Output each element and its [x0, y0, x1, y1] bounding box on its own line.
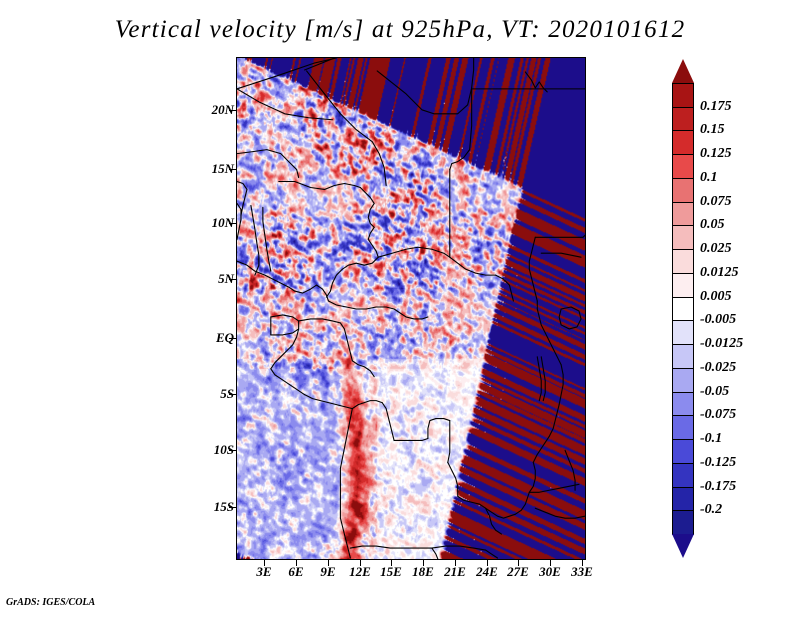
border-line — [450, 257, 496, 275]
colorbar-segment — [672, 202, 694, 227]
border-line — [496, 275, 514, 301]
colorbar-segment — [672, 83, 694, 108]
border-line — [237, 261, 295, 291]
border-line — [305, 395, 353, 409]
border-line — [448, 462, 458, 496]
border-line — [382, 403, 394, 441]
colorbar-tick-label: -0.125 — [700, 455, 736, 471]
border-line — [271, 369, 305, 395]
border-line — [545, 333, 561, 365]
border-line — [263, 207, 271, 271]
colorbar-segment — [672, 320, 694, 345]
border-line — [328, 301, 386, 309]
colorbar-tick-label: 0.1 — [700, 170, 718, 186]
colorbar-segment — [672, 392, 694, 417]
border-line — [486, 550, 498, 558]
border-line — [237, 203, 241, 239]
ytick-label-eq: EQ — [216, 330, 234, 346]
colorbar-tick-label: -0.1 — [700, 431, 722, 447]
border-line — [342, 257, 378, 269]
border-line — [237, 150, 299, 178]
colorbar-segment — [672, 273, 694, 298]
ytick-label-15n: 15N — [212, 161, 234, 177]
border-line — [529, 269, 537, 301]
colorbar-segment — [672, 107, 694, 132]
border-line — [352, 361, 374, 377]
border-line — [368, 227, 378, 257]
border-line — [340, 409, 352, 469]
border-line — [340, 518, 350, 558]
colorbar-segment — [672, 368, 694, 393]
colorbar-segment — [672, 510, 694, 535]
attribution-text: GrADS: IGES/COLA — [6, 597, 95, 608]
colorbar-arrow-under — [672, 534, 694, 558]
xtick-label-33e: 33E — [571, 564, 593, 580]
xtick-label-15e: 15E — [380, 564, 402, 580]
border-line — [271, 321, 299, 335]
border-line — [565, 450, 575, 490]
border-line — [529, 462, 535, 492]
colorbar-segment — [672, 344, 694, 369]
xtick-label-21e: 21E — [444, 564, 466, 580]
colorbar-segment — [672, 297, 694, 322]
colorbar-tick-label: -0.05 — [700, 384, 729, 400]
colorbar-arrow-over — [672, 59, 694, 83]
border-line — [541, 357, 545, 401]
colorbar-tick-label: 0.0125 — [700, 265, 739, 281]
colorbar-segment — [672, 249, 694, 274]
ytick-label-20n: 20N — [212, 102, 234, 118]
border-line — [428, 419, 450, 439]
xtick-label-6e: 6E — [288, 564, 303, 580]
border-line — [340, 323, 352, 361]
page-title: Vertical velocity [m/s] at 925hPa, VT: 2… — [0, 16, 800, 44]
border-line — [237, 182, 247, 216]
border-line — [378, 247, 450, 257]
map-plot-area — [236, 57, 586, 560]
colorbar-segment — [672, 154, 694, 179]
border-line — [432, 548, 438, 559]
border-line — [271, 315, 299, 321]
border-line — [458, 496, 486, 508]
colorbar-segment — [672, 439, 694, 464]
border-line — [541, 253, 581, 257]
border-line — [352, 401, 382, 409]
border-line — [386, 307, 428, 319]
colorbar-segment — [672, 463, 694, 488]
border-line — [295, 285, 329, 301]
colorbar-tick-label: 0.125 — [700, 146, 732, 162]
colorbar-tick-label: -0.2 — [700, 502, 722, 518]
border-line — [360, 187, 374, 227]
xtick-label-30e: 30E — [539, 564, 561, 580]
ytick-label-10s: 10S — [214, 442, 234, 458]
colorbar-tick-label: -0.175 — [700, 479, 736, 495]
colorbar-segment — [672, 225, 694, 250]
xtick-label-27e: 27E — [507, 564, 529, 580]
colorbar-tick-label: 0.15 — [700, 122, 725, 138]
colorbar-segment — [672, 130, 694, 155]
colorbar-segment — [672, 415, 694, 440]
xtick-label-9e: 9E — [320, 564, 335, 580]
border-line — [535, 508, 585, 518]
border-line — [515, 492, 529, 514]
border-line — [559, 365, 563, 405]
border-line — [307, 71, 387, 186]
border-line — [559, 307, 581, 329]
colorbar-segment — [672, 487, 694, 512]
colorbar-tick-label: -0.075 — [700, 407, 736, 423]
border-line — [472, 58, 474, 88]
border-line — [432, 546, 486, 550]
border-line — [537, 301, 545, 333]
border-line — [583, 235, 585, 237]
colorbar — [672, 83, 694, 534]
colorbar-tick-label: 0.025 — [700, 241, 732, 257]
ytick-label-10n: 10N — [212, 215, 234, 231]
border-line — [305, 58, 335, 70]
border-line — [350, 546, 432, 548]
border-line — [279, 182, 361, 190]
xtick-label-24e: 24E — [476, 564, 498, 580]
xtick-label-18e: 18E — [412, 564, 434, 580]
border-line — [448, 421, 450, 463]
border-line — [533, 436, 549, 462]
border-line — [549, 405, 559, 437]
border-line — [237, 89, 332, 120]
xtick-label-3e: 3E — [256, 564, 271, 580]
country-borders-overlay — [237, 58, 585, 559]
border-line — [529, 237, 535, 269]
border-line — [529, 484, 579, 492]
border-line — [394, 438, 428, 440]
border-line — [251, 205, 259, 275]
border-line — [377, 71, 471, 114]
xtick-label-12e: 12E — [349, 564, 371, 580]
colorbar-tick-label: 0.175 — [700, 99, 732, 115]
ytick-label-5n: 5N — [218, 271, 234, 287]
border-line — [299, 319, 341, 323]
ytick-label-15s: 15S — [214, 499, 234, 515]
colorbar-tick-label: 0.05 — [700, 217, 725, 233]
colorbar-tick-label: 0.075 — [700, 194, 732, 210]
colorbar-tick-label: -0.005 — [700, 312, 736, 328]
border-line — [537, 357, 541, 401]
ytick-label-5s: 5S — [220, 386, 234, 402]
colorbar-tick-label: 0.005 — [700, 289, 732, 305]
colorbar-tick-label: -0.025 — [700, 360, 736, 376]
border-line — [326, 269, 342, 297]
colorbar-segment — [672, 178, 694, 203]
colorbar-tick-label: -0.0125 — [700, 336, 743, 352]
border-line — [486, 508, 502, 534]
